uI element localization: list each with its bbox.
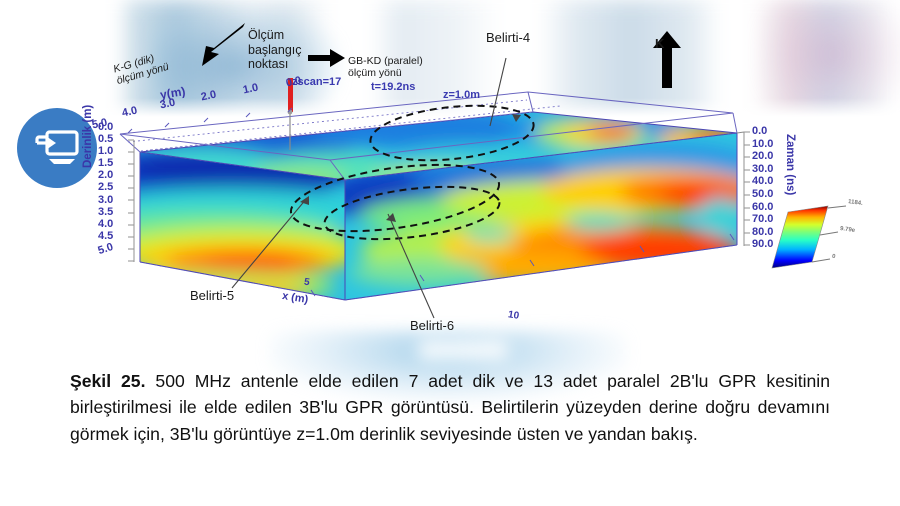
depth-tick-0: 0.0 [98,121,113,133]
depth-tick-5: 2.5 [98,181,113,193]
x-tick-5: 5 [303,277,310,289]
label-north: K [655,36,664,51]
label-time: t=19.2ns [371,81,415,94]
depth-tick-3: 1.5 [98,157,113,169]
label-belirti-6: Belirti-6 [410,318,454,333]
depth-tick-2: 1.0 [98,145,113,157]
figure-caption: Şekil 25. 500 MHz antenle elde edilen 7 … [70,368,830,447]
time-tick-2: 20.0 [752,150,773,162]
time-tick-4: 40.0 [752,175,773,187]
depth-tick-8: 4.0 [98,218,113,230]
label-belirti-5: Belirti-5 [190,288,234,303]
label-parallel-direction: GB-KD (paralel) ölçüm yönü [348,55,423,79]
gpr-3d-figure: Ölçüm başlangıç noktası K-G (dik) ölçüm … [0,0,900,356]
label-depth-slice: z=1.0m [443,89,480,102]
time-tick-6: 60.0 [752,201,773,213]
figure-number: Şekil 25. [70,371,145,391]
x-tick-10: 10 [507,309,520,322]
figure-caption-text: 500 MHz antenle elde edilen 7 adet dik v… [70,371,830,444]
depth-axis-line [128,140,134,262]
label-start-point: Ölçüm başlangıç noktası [248,28,302,72]
y-axis-ticks [128,108,292,133]
arrow-parallel [308,49,345,67]
time-tick-8: 80.0 [752,226,773,238]
arrow-perpendicular [202,23,245,66]
time-tick-3: 30.0 [752,163,773,175]
time-tick-9: 90.0 [752,238,773,250]
time-tick-1: 10.0 [752,138,773,150]
depth-tick-4: 2.0 [98,169,113,181]
label-belirti-4: Belirti-4 [486,30,530,45]
time-tick-0: 0.0 [752,125,767,137]
depth-tick-6: 3.0 [98,194,113,206]
axis-label-depth: Derinlik (m) [82,105,94,168]
time-tick-5: 50.0 [752,188,773,200]
depth-tick-1: 0.5 [98,133,113,145]
depth-tick-7: 3.5 [98,206,113,218]
time-tick-7: 70.0 [752,213,773,225]
axis-label-time: Zaman (ns) [784,134,796,195]
time-axis-line [737,132,750,246]
